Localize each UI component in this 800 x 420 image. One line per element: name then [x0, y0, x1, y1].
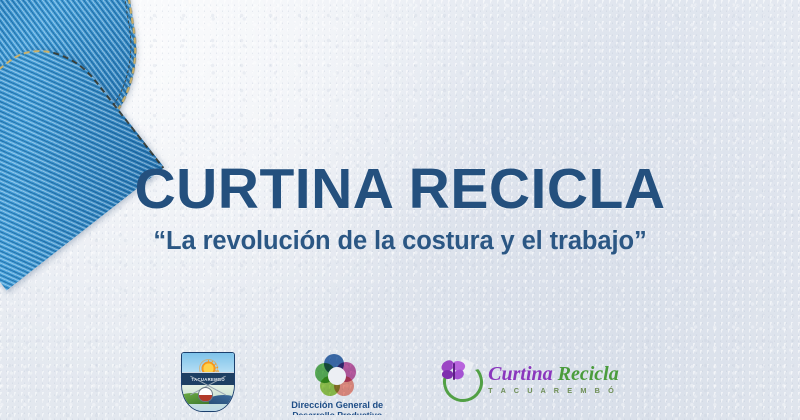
page-subtitle: “La revolución de la costura y el trabaj…	[0, 227, 800, 256]
shield-blue-hill	[209, 395, 235, 404]
flower-spiral-icon	[315, 354, 359, 398]
program-wordmark: Curtina Recicla T A C U A R E M B Ó	[488, 364, 619, 394]
butterfly-body	[453, 363, 455, 380]
logo-directorate: Dirección General de Desarrollo Producti…	[291, 352, 383, 420]
logo-municipality: TACUAREMBÓ	[181, 352, 235, 412]
curtina-recicla-logo: Curtina Recicla T A C U A R E M B Ó	[439, 358, 619, 400]
poster-canvas: CURTINA RECICLA “La revolución de la cos…	[0, 0, 800, 420]
program-name: Curtina Recicla	[488, 364, 619, 384]
directorate-line-1: Dirección General de	[291, 400, 383, 411]
program-name-word-2: Recicla	[558, 363, 619, 385]
headline-block: CURTINA RECICLA “La revolución de la cos…	[0, 160, 800, 256]
page-title: CURTINA RECICLA	[0, 160, 800, 218]
directorate-line-2: Desarrollo Productivo	[291, 411, 383, 420]
butterfly-icon	[441, 361, 467, 385]
program-name-word-1: Curtina	[488, 363, 552, 385]
logo-program: Curtina Recicla T A C U A R E M B Ó	[439, 352, 619, 400]
shield-emblem-center	[198, 387, 213, 402]
butterfly-leaf-icon	[439, 358, 481, 400]
logo-bar: TACUAREMBÓ Direcci	[0, 348, 800, 420]
directorate-caption: Dirección General de Desarrollo Producti…	[291, 400, 383, 420]
program-tagline: T A C U A R E M B Ó	[488, 387, 619, 394]
tacuarembo-shield-icon: TACUAREMBÓ	[181, 352, 235, 412]
